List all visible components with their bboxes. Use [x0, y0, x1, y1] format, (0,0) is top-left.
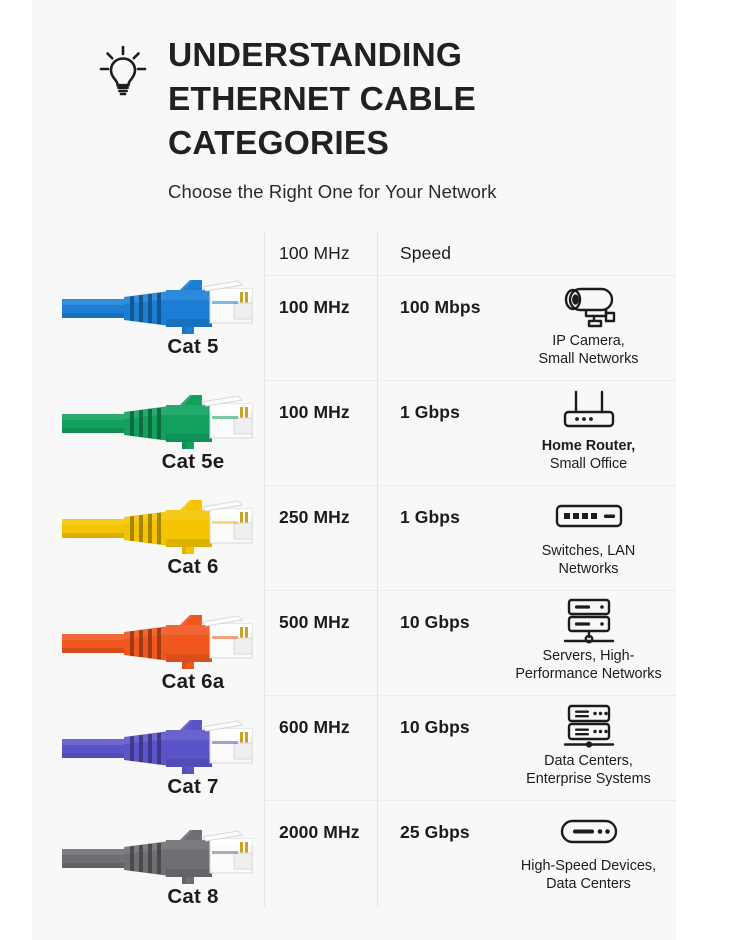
use-case-label: High-Speed Devices,Data Centers: [521, 857, 656, 894]
ethernet-cable-icon: [62, 497, 258, 559]
column-header-speed: Speed: [378, 231, 500, 276]
cable-category-label: Cat 6a: [62, 670, 258, 694]
cell-bandwidth: 100 MHz: [265, 381, 378, 485]
cell-bandwidth: 2000 MHz: [265, 801, 378, 906]
page-subtitle: Choose the Right One for Your Network: [168, 181, 656, 203]
use-case-line-1: Servers, High-: [543, 648, 635, 664]
ethernet-cable-icon: [62, 277, 258, 339]
table-row: 100 MHz1 Gbps Home Router,Small Office: [265, 381, 677, 486]
table-row: 600 MHz10 Gbps Data Centers,Enterprise S…: [265, 696, 677, 801]
ethernet-cable-icon: [62, 392, 258, 454]
cable-block: Cat 6a: [62, 612, 258, 694]
use-case-line-2: Performance Networks: [515, 666, 661, 682]
comparison-table: 100 MHz Speed 100 MHz100 Mbps IP Camera,…: [264, 231, 677, 906]
cell-use-case: IP Camera,Small Networks: [500, 276, 677, 380]
cell-speed: 10 Gbps: [378, 591, 500, 695]
cell-speed: 1 Gbps: [378, 486, 500, 590]
security-camera-icon: [556, 282, 622, 330]
cable-category-label: Cat 8: [62, 885, 258, 909]
use-case-line-2: Small Office: [550, 456, 627, 472]
cable-category-label: Cat 7: [62, 775, 258, 799]
table-header-row: 100 MHz Speed: [265, 231, 677, 276]
cell-bandwidth: 500 MHz: [265, 591, 378, 695]
wifi-router-icon: [556, 387, 622, 435]
infographic-page: Understanding Ethernet Cable Categories …: [0, 0, 736, 940]
cell-speed: 100 Mbps: [378, 276, 500, 380]
cell-use-case: Home Router,Small Office: [500, 381, 677, 485]
cable-block: Cat 5e: [62, 392, 258, 474]
use-case-line-2: Networks: [559, 561, 619, 577]
cable-category-label: Cat 5: [62, 335, 258, 359]
cable-category-label: Cat 5e: [62, 450, 258, 474]
table-row: 500 MHz10 Gbps Servers, High-Performance…: [265, 591, 677, 696]
high-speed-device-icon: [554, 807, 624, 855]
use-case-line-1: High-Speed Devices,: [521, 858, 656, 874]
lightbulb-icon: [96, 42, 150, 98]
table-row: 2000 MHz25 Gbps High-Speed Devices,Data …: [265, 801, 677, 906]
ethernet-cable-icon: [62, 827, 258, 889]
use-case-line-1: Home Router,: [542, 438, 636, 454]
use-case-label: Servers, High-Performance Networks: [515, 647, 661, 684]
column-header-bandwidth: 100 MHz: [265, 231, 378, 276]
use-case-line-2: Small Networks: [539, 351, 639, 367]
cable-block: Cat 7: [62, 717, 258, 799]
use-case-line-1: IP Camera,: [552, 333, 625, 349]
cable-block: Cat 6: [62, 497, 258, 579]
ethernet-cable-icon: [62, 612, 258, 674]
use-case-label: Home Router,Small Office: [542, 437, 636, 474]
use-case-label: Data Centers,Enterprise Systems: [526, 752, 651, 789]
use-case-line-2: Data Centers: [546, 876, 631, 892]
cell-speed: 25 Gbps: [378, 801, 500, 906]
use-case-line-2: Enterprise Systems: [526, 771, 651, 787]
server-rack-icon: [559, 597, 619, 645]
use-case-line-1: Switches, LAN: [542, 543, 636, 559]
use-case-label: Switches, LANNetworks: [542, 542, 636, 579]
cell-use-case: Switches, LANNetworks: [500, 486, 677, 590]
cable-block: Cat 8: [62, 827, 258, 909]
ethernet-cable-icon: [62, 717, 258, 779]
cell-speed: 10 Gbps: [378, 696, 500, 800]
cell-bandwidth: 600 MHz: [265, 696, 378, 800]
column-header-usecase: [500, 250, 677, 256]
cable-category-label: Cat 6: [62, 555, 258, 579]
page-title: Understanding Ethernet Cable Categories: [168, 34, 528, 167]
cell-use-case: Servers, High-Performance Networks: [500, 591, 677, 695]
cell-bandwidth: 250 MHz: [265, 486, 378, 590]
title-row: Understanding Ethernet Cable Categories: [96, 34, 656, 167]
use-case-line-1: Data Centers,: [544, 753, 633, 769]
network-switch-icon: [554, 492, 624, 540]
cable-block: Cat 5: [62, 277, 258, 359]
cell-use-case: High-Speed Devices,Data Centers: [500, 801, 677, 906]
cell-speed: 1 Gbps: [378, 381, 500, 485]
use-case-label: IP Camera,Small Networks: [539, 332, 639, 369]
table-row: 250 MHz1 Gbps Switches, LANNetworks: [265, 486, 677, 591]
cell-use-case: Data Centers,Enterprise Systems: [500, 696, 677, 800]
data-center-rack-icon: [558, 702, 620, 750]
table-row: 100 MHz100 Mbps IP Camera,Small Networks: [265, 276, 677, 381]
header: Understanding Ethernet Cable Categories …: [96, 34, 656, 203]
cell-bandwidth: 100 MHz: [265, 276, 378, 380]
